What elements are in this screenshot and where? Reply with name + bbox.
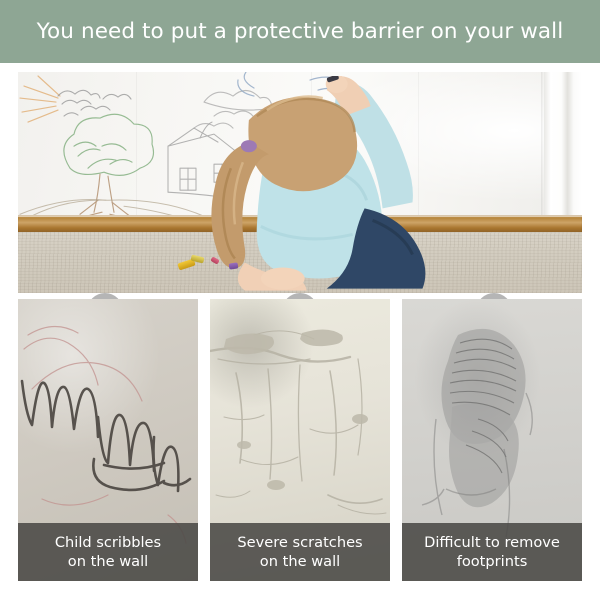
panel-difficult-footprints: Difficult to remove footprints <box>402 299 582 581</box>
header-bar: You need to put a protective barrier on … <box>0 0 600 63</box>
panel-caption-line1: Difficult to remove <box>424 533 560 552</box>
chipped-paint-patches <box>224 329 368 490</box>
hair-tie <box>241 141 257 153</box>
problem-panels: Child scribbles on the wall <box>18 299 582 581</box>
panel-caption-line2: on the wall <box>68 552 148 571</box>
panel-severe-scratches: Severe scratches on the wall <box>210 299 390 581</box>
panel-caption-line2: on the wall <box>260 552 340 571</box>
hero-image <box>18 72 582 293</box>
panel-caption: Child scribbles on the wall <box>18 523 198 581</box>
panel-caption-line1: Severe scratches <box>237 533 362 552</box>
page-title: You need to put a protective barrier on … <box>37 19 564 44</box>
panel-caption-line1: Child scribbles <box>55 533 161 552</box>
panel-child-scribbles: Child scribbles on the wall <box>18 299 198 581</box>
girl-foot <box>261 268 305 290</box>
girl-figure <box>187 76 446 293</box>
panel-caption-line2: footprints <box>457 552 528 571</box>
shoe-sole-smudge <box>441 329 525 507</box>
panel-caption: Severe scratches on the wall <box>210 523 390 581</box>
hero-image-content <box>18 72 582 293</box>
panel-caption: Difficult to remove footprints <box>402 523 582 581</box>
promotional-banner: You need to put a protective barrier on … <box>0 0 600 600</box>
